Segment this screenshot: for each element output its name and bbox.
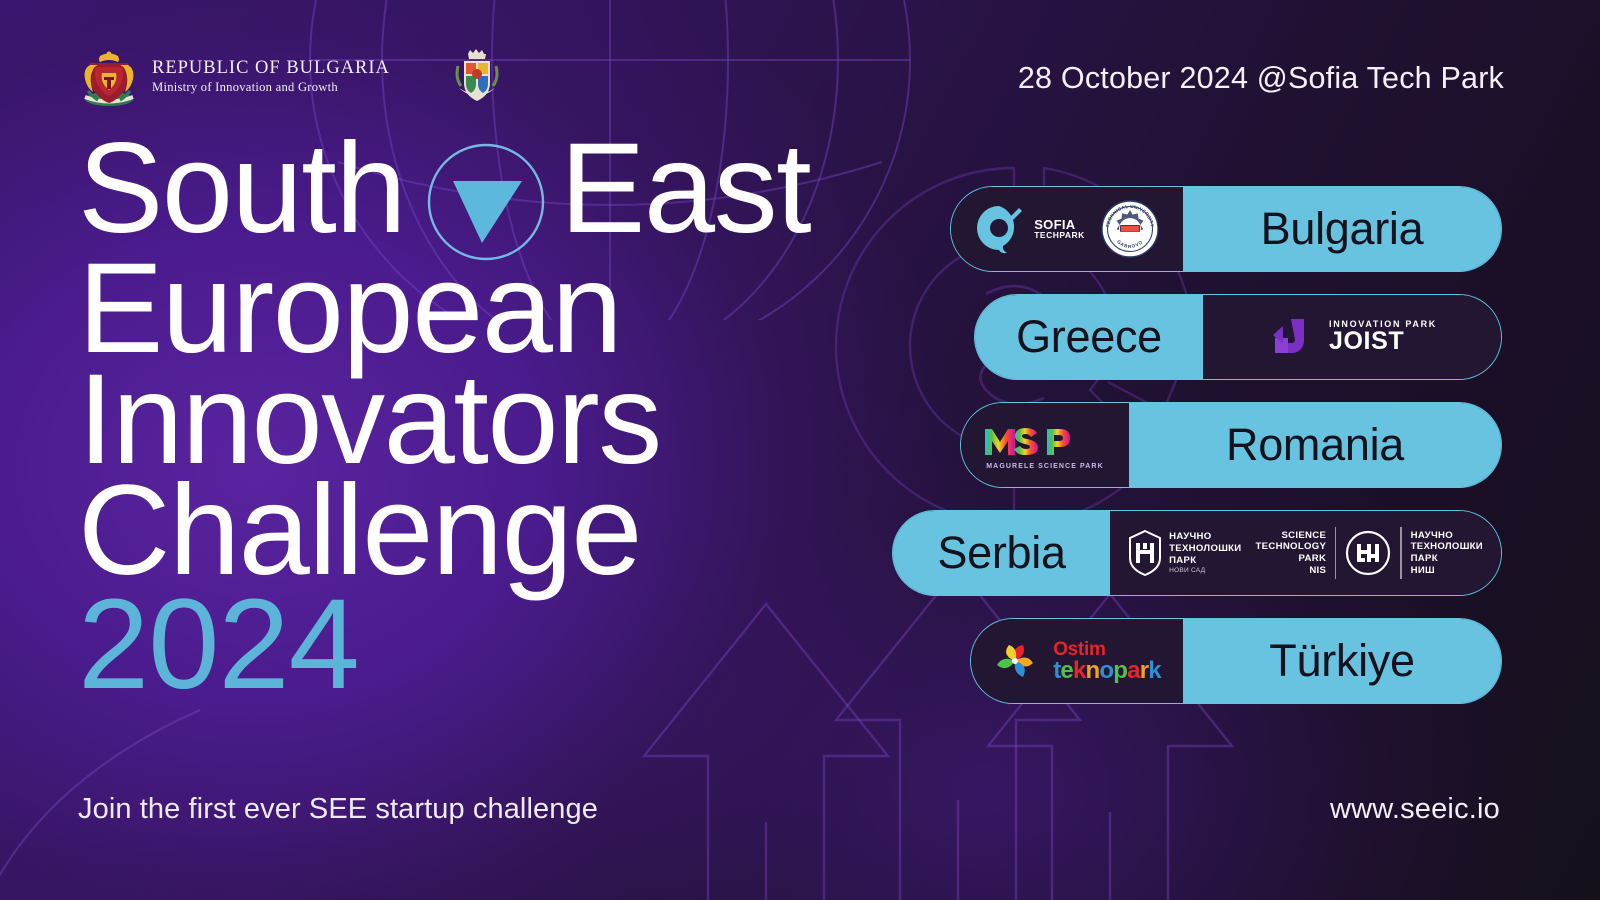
technical-university-gabrovo-seal: TECHNICAL UNIVERSITY GABROVO	[1101, 200, 1159, 258]
sofia-techpark-sub: TECHPARK	[1034, 231, 1085, 240]
ntp-nis-cy-line3: ПАРК	[1411, 553, 1483, 565]
bulgaria-coat-of-arms-icon	[78, 47, 140, 109]
ntp-ns-line1: НАУЧНО	[1169, 531, 1241, 543]
romania-label-segment: Romania	[1129, 403, 1501, 487]
partner-pill-turkiye[interactable]: Ostim teknopark Türkiye	[970, 618, 1502, 704]
partner-pills-list: SOFIA TECHPARK	[922, 186, 1502, 726]
bulgaria-logos-segment: SOFIA TECHPARK	[951, 187, 1183, 271]
sofia-techpark-name: SOFIA	[1034, 218, 1085, 232]
greece-logos-segment: INNOVATION PARK JOIST	[1203, 295, 1501, 379]
serbia-logos-segment: НАУЧНО ТЕХНОЛОШКИ ПАРК НОВИ САД SCIENCE …	[1110, 511, 1501, 595]
ntp-nis-en-line1: SCIENCE	[1256, 530, 1327, 542]
ntp-novi-sad-shield-icon	[1128, 529, 1162, 577]
sofia-municipality-coat-of-arms-icon	[454, 48, 500, 108]
ntp-nis-en-line2: TECHNOLOGY	[1256, 541, 1327, 553]
partner-pill-bulgaria[interactable]: SOFIA TECHPARK	[950, 186, 1502, 272]
turkiye-label-segment: Türkiye	[1183, 619, 1501, 703]
nis-divider-left	[1335, 527, 1336, 579]
poster-canvas: REPUBLIC OF BULGARIA Ministry of Innovat…	[0, 0, 1600, 900]
ministry-line2: Ministry of Innovation and Growth	[152, 78, 390, 97]
headline-year: 2024	[78, 586, 918, 704]
headline-block: South East European Innovators Challenge…	[78, 142, 918, 704]
header-bar: REPUBLIC OF BULGARIA Ministry of Innovat…	[78, 46, 1504, 110]
ntp-ns-line3: ПАРК	[1169, 555, 1241, 567]
sofia-techpark-logo: SOFIA TECHPARK	[975, 204, 1085, 254]
nis-divider-right	[1400, 527, 1401, 579]
ostim-pinwheel-icon	[993, 639, 1037, 683]
serbia-label-segment: Serbia	[893, 511, 1110, 595]
turkiye-logos-segment: Ostim teknopark	[971, 619, 1183, 703]
msp-wordmark-icon	[981, 421, 1109, 461]
headline-line-4: Challenge	[78, 475, 918, 586]
science-technology-park-nis-logo: SCIENCE TECHNOLOGY PARK NIS	[1256, 527, 1483, 579]
ministry-line1: REPUBLIC OF BULGARIA	[152, 59, 390, 78]
msp-sub: MAGURELE SCIENCE PARK	[986, 463, 1103, 470]
joist-mark-icon	[1267, 314, 1313, 360]
ntp-nis-en-line3: PARK	[1256, 553, 1327, 565]
bulgaria-label-segment: Bulgaria	[1183, 187, 1501, 271]
partner-pill-romania[interactable]: MAGURELE SCIENCE PARK Romania	[960, 402, 1502, 488]
tagline: Join the first ever SEE startup challeng…	[78, 793, 598, 826]
sofia-techpark-mark-icon	[975, 204, 1027, 254]
country-label-turkiye: Türkiye	[1269, 635, 1414, 687]
ntp-ns-line2: ТЕХНОЛОШКИ	[1169, 543, 1241, 555]
ntp-nis-cy-line2: ТЕХНОЛОШКИ	[1411, 541, 1483, 553]
ostim-teknopark-logo: Ostim teknopark	[975, 639, 1179, 683]
partner-pill-greece[interactable]: Greece INNOVATION PARK JOIST	[974, 294, 1502, 380]
ministry-lockup: REPUBLIC OF BULGARIA Ministry of Innovat…	[78, 47, 500, 109]
event-date: 28 October 2024 @Sofia Tech Park	[1018, 61, 1504, 96]
country-label-greece: Greece	[1016, 311, 1162, 363]
headline-line-1: South East	[78, 142, 918, 253]
website-link[interactable]: www.seeic.io	[1330, 793, 1500, 826]
ntp-ns-sub: НОВИ САД	[1169, 567, 1241, 575]
romania-logos-segment: MAGURELE SCIENCE PARK	[961, 403, 1129, 487]
country-label-serbia: Serbia	[937, 527, 1065, 579]
greece-label-segment: Greece	[975, 295, 1203, 379]
ntp-nis-cy-line1: НАУЧНО	[1411, 530, 1483, 542]
joist-name: JOIST	[1329, 329, 1437, 354]
circle-triangle-marker-icon	[426, 142, 546, 262]
headline-word-east: East	[560, 125, 810, 253]
joist-innovation-park-logo: INNOVATION PARK JOIST	[1249, 314, 1455, 360]
country-label-bulgaria: Bulgaria	[1261, 203, 1424, 255]
ministry-text: REPUBLIC OF BULGARIA Ministry of Innovat…	[152, 59, 390, 97]
ntp-nis-en-line4: NIS	[1256, 565, 1327, 577]
headline-word-south: South	[78, 125, 405, 253]
country-label-romania: Romania	[1226, 419, 1404, 471]
magurele-science-park-logo: MAGURELE SCIENCE PARK	[981, 421, 1109, 470]
partner-pill-serbia[interactable]: Serbia НАУЧНО ТЕХНОЛОШКИ ПАРК	[892, 510, 1502, 596]
teknopark-name: teknopark	[1053, 659, 1161, 683]
ntp-nis-cy-line4: НИШ	[1411, 565, 1483, 577]
science-technology-park-novi-sad-logo: НАУЧНО ТЕХНОЛОШКИ ПАРК НОВИ САД	[1128, 529, 1241, 577]
ntp-nis-circle-icon	[1345, 530, 1391, 576]
